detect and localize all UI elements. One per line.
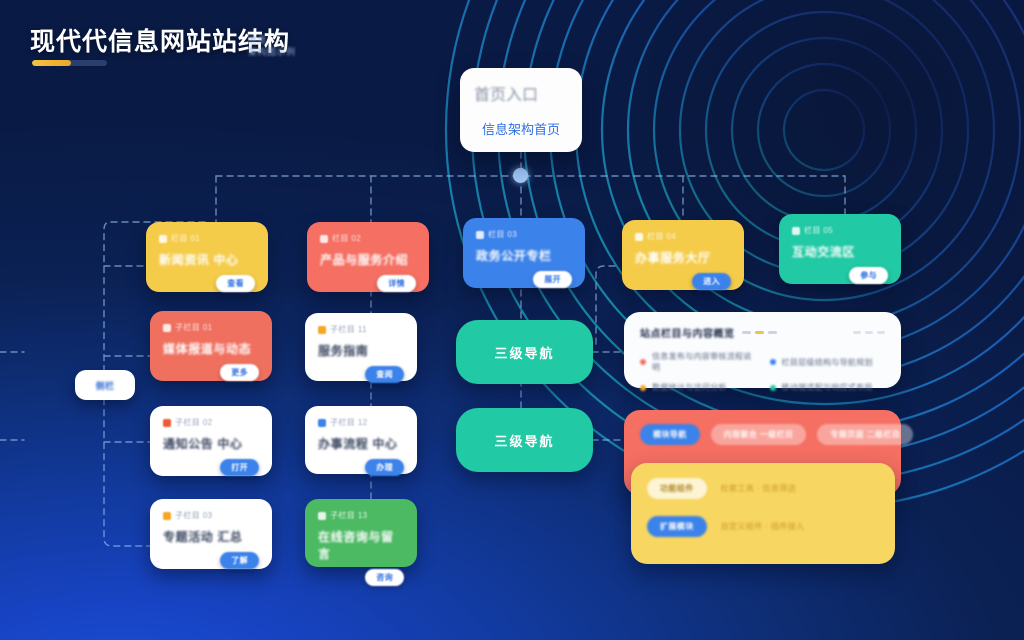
bullet-icon — [770, 385, 776, 391]
square-icon — [163, 324, 171, 332]
chat-icon — [318, 512, 326, 520]
top-card-4-eyebrow: 栏目 04 — [635, 231, 731, 242]
top-card-5[interactable]: 栏目 05 互动交流区 参与 — [779, 214, 901, 284]
top-card-3-button[interactable]: 展开 — [533, 271, 572, 288]
top-card-1-button[interactable]: 查看 — [216, 275, 255, 292]
mid-card-3-eyebrow: 子栏目 13 — [318, 510, 404, 521]
top-card-5-eyebrow: 栏目 05 — [792, 225, 888, 236]
mid-card-2-button[interactable]: 办理 — [365, 459, 404, 476]
root-eyebrow-label: 首页入口 — [474, 87, 538, 104]
left-card-1-eyebrow-label: 子栏目 01 — [175, 322, 213, 333]
top-card-5-eyebrow-label: 栏目 05 — [804, 225, 833, 236]
list-item[interactable]: 数据统计与访问分析 — [640, 382, 756, 393]
component-tag-1[interactable]: 功能组件 — [647, 478, 707, 499]
top-card-2[interactable]: 栏目 02 产品与服务介绍 详情 — [307, 222, 429, 292]
left-card-2-button[interactable]: 打开 — [220, 459, 259, 476]
list-item[interactable]: 信息发布与内容审核流程说明 — [640, 351, 756, 373]
rail-node-sidebar[interactable]: 侧栏 — [75, 370, 135, 400]
component-text-1: 检索工具 · 信息筛选 — [721, 483, 797, 494]
bullet-icon — [640, 385, 646, 391]
left-card-2-title: 通知公告 中心 — [163, 435, 259, 452]
teal-node-2[interactable]: 三级导航 — [456, 408, 593, 472]
mid-card-1[interactable]: 子栏目 11 服务指南 查阅 — [305, 313, 417, 381]
top-card-3-eyebrow-label: 栏目 03 — [488, 229, 517, 240]
module-tag-3[interactable]: 专题页面 二级栏目 — [817, 424, 913, 445]
bullet-icon — [770, 359, 776, 365]
panel-right-marks — [853, 331, 885, 334]
list-item[interactable]: 移动端适配与响应式布局 — [770, 382, 886, 393]
mid-card-3-button[interactable]: 咨询 — [365, 569, 404, 586]
mid-card-3-eyebrow-label: 子栏目 13 — [330, 510, 368, 521]
square-icon — [159, 235, 167, 243]
list-item-text: 移动端适配与响应式布局 — [782, 382, 873, 393]
component-text-2: 自定义组件 · 插件接入 — [721, 521, 805, 532]
flow-icon — [318, 419, 326, 427]
square-icon — [792, 227, 800, 235]
mid-card-3[interactable]: 子栏目 13 在线咨询与留言 咨询 — [305, 499, 417, 567]
component-row-1[interactable]: 功能组件 检索工具 · 信息筛选 — [647, 478, 879, 499]
component-tag-2[interactable]: 扩展模块 — [647, 516, 707, 537]
mid-card-1-eyebrow: 子栏目 11 — [318, 324, 404, 335]
left-card-3-eyebrow: 子栏目 03 — [163, 510, 259, 521]
top-card-5-title: 互动交流区 — [792, 243, 888, 260]
star-icon — [163, 512, 171, 520]
top-card-2-button[interactable]: 详情 — [377, 275, 416, 292]
top-card-4-eyebrow-label: 栏目 04 — [647, 231, 676, 242]
top-card-3-eyebrow: 栏目 03 — [476, 229, 572, 240]
mid-card-2[interactable]: 子栏目 12 办事流程 中心 办理 — [305, 406, 417, 474]
list-item-text: 信息发布与内容审核流程说明 — [652, 351, 756, 373]
left-card-1-title: 媒体报道与动态 — [163, 340, 259, 357]
overview-panel-heading: 站点栏目与内容概览 — [640, 325, 735, 340]
header: 现代代信息网站站结构 信息 架构图示例 — [30, 22, 290, 58]
left-card-3-title: 专题活动 汇总 — [163, 528, 259, 545]
root-node[interactable]: 首页入口 信息架构首页 — [460, 68, 582, 152]
left-card-1[interactable]: 子栏目 01 媒体报道与动态 更多 — [150, 311, 272, 381]
top-card-2-eyebrow: 栏目 02 — [320, 233, 416, 244]
component-panel[interactable]: 功能组件 检索工具 · 信息筛选 扩展模块 自定义组件 · 插件接入 — [631, 463, 895, 564]
top-card-3[interactable]: 栏目 03 政务公开专栏 展开 — [463, 218, 585, 288]
top-card-2-eyebrow-label: 栏目 02 — [332, 233, 361, 244]
left-card-2-eyebrow: 子栏目 02 — [163, 417, 259, 428]
overview-panel[interactable]: 站点栏目与内容概览 信息发布与内容审核流程说明 栏目层级结构与导航规划 数据统计… — [624, 312, 901, 388]
list-item-text: 栏目层级结构与导航规划 — [782, 357, 873, 368]
top-card-5-button[interactable]: 参与 — [849, 267, 888, 284]
top-card-1-title: 新闻资讯 中心 — [159, 251, 255, 268]
rail-node-label: 侧栏 — [96, 379, 115, 392]
corner-glow — [624, 0, 1024, 360]
mid-card-1-title: 服务指南 — [318, 342, 404, 359]
mid-card-1-button[interactable]: 查阅 — [365, 366, 404, 383]
component-row-2[interactable]: 扩展模块 自定义组件 · 插件接入 — [647, 516, 879, 537]
bullet-icon — [640, 359, 646, 365]
left-card-1-button[interactable]: 更多 — [220, 364, 259, 381]
square-icon — [635, 233, 643, 241]
module-tag-2[interactable]: 内容聚合 一级栏目 — [711, 424, 807, 445]
title-progress-bar — [32, 60, 107, 66]
bus-junction-dot — [513, 168, 528, 183]
square-icon — [320, 235, 328, 243]
top-card-3-title: 政务公开专栏 — [476, 247, 572, 264]
top-card-4-title: 办事服务大厅 — [635, 249, 731, 266]
left-card-1-eyebrow: 子栏目 01 — [163, 322, 259, 333]
top-card-2-title: 产品与服务介绍 — [320, 251, 416, 268]
heading-marks — [742, 331, 777, 334]
mid-card-3-title: 在线咨询与留言 — [318, 528, 404, 562]
root-eyebrow: 首页入口 — [474, 81, 568, 105]
teal-node-2-label: 三级导航 — [494, 431, 554, 450]
left-card-2[interactable]: 子栏目 02 通知公告 中心 打开 — [150, 406, 272, 476]
list-icon — [318, 326, 326, 334]
root-title: 信息架构首页 — [474, 119, 568, 138]
top-card-1-eyebrow-label: 栏目 01 — [171, 233, 200, 244]
top-card-1-eyebrow: 栏目 01 — [159, 233, 255, 244]
mid-card-2-title: 办事流程 中心 — [318, 435, 404, 452]
doc-icon — [163, 419, 171, 427]
top-card-4-button[interactable]: 进入 — [692, 273, 731, 290]
list-item-text: 数据统计与访问分析 — [652, 382, 727, 393]
teal-node-1[interactable]: 三级导航 — [456, 320, 593, 384]
left-card-3-eyebrow-label: 子栏目 03 — [175, 510, 213, 521]
teal-node-1-label: 三级导航 — [494, 343, 554, 362]
left-card-3[interactable]: 子栏目 03 专题活动 汇总 了解 — [150, 499, 272, 569]
top-card-1[interactable]: 栏目 01 新闻资讯 中心 查看 — [146, 222, 268, 292]
overview-items: 信息发布与内容审核流程说明 栏目层级结构与导航规划 数据统计与访问分析 移动端适… — [640, 351, 885, 393]
left-card-3-button[interactable]: 了解 — [220, 552, 259, 569]
overview-panel-header: 站点栏目与内容概览 — [640, 325, 885, 340]
mid-card-2-eyebrow-label: 子栏目 12 — [330, 417, 368, 428]
page-subtitle: 信息 架构图示例 — [248, 34, 296, 58]
square-icon — [476, 231, 484, 239]
module-tag-1[interactable]: 模块导航 — [640, 424, 700, 445]
mid-card-1-eyebrow-label: 子栏目 11 — [330, 324, 367, 335]
infographic-canvas: 现代代信息网站站结构 信息 架构图示例 — [0, 0, 1024, 640]
mid-card-2-eyebrow: 子栏目 12 — [318, 417, 404, 428]
list-item[interactable]: 栏目层级结构与导航规划 — [770, 351, 886, 373]
left-card-2-eyebrow-label: 子栏目 02 — [175, 417, 213, 428]
top-card-4[interactable]: 栏目 04 办事服务大厅 进入 — [622, 220, 744, 290]
